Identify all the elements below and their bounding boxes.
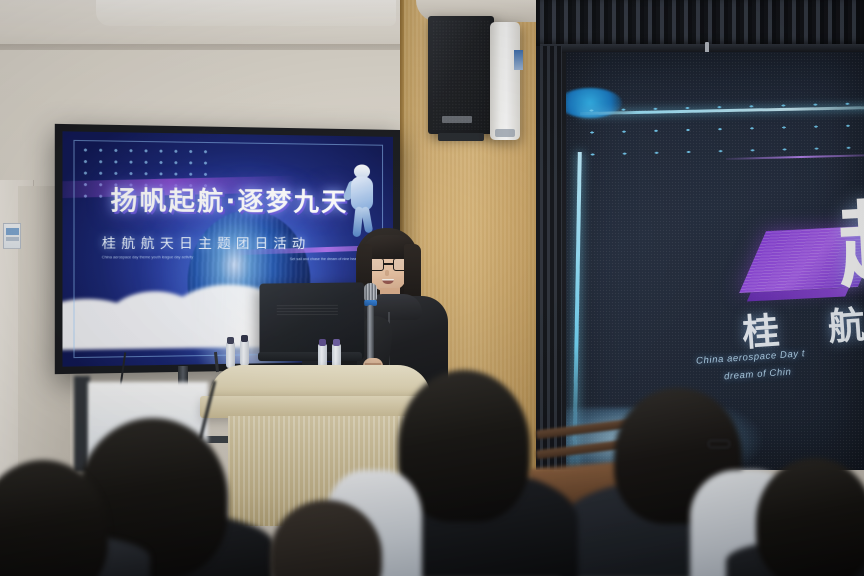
slat-left-strip — [536, 46, 562, 470]
water-bottle — [226, 342, 235, 368]
speaker-mount-bracket — [438, 133, 484, 141]
mic-grille — [364, 283, 377, 301]
left-screen-title: 扬帆起航·逐梦九天 — [110, 180, 371, 219]
water-bottle — [240, 340, 249, 366]
monitor-base — [258, 352, 362, 361]
right-screen-chinese-line: 桂 航 — [740, 293, 864, 357]
dark-slat-wall-top — [536, 0, 864, 46]
left-screen-english-left: China aerospace day theme youth league d… — [102, 255, 230, 261]
wall-notice-placard — [3, 223, 21, 249]
monitor-vent — [277, 305, 338, 317]
white-column-speaker — [490, 22, 520, 140]
speaker-base — [495, 129, 515, 137]
ceiling-recess — [96, 0, 396, 26]
audience-eyeglasses-icon — [708, 440, 730, 448]
black-loudspeaker — [428, 16, 494, 134]
speaker-label-tag — [514, 50, 523, 70]
presenter-monitor-rear — [260, 282, 365, 359]
photo-scene: 起 桂 航 China aerospace Day t dream of Chi… — [0, 0, 864, 576]
speaker-brand-logo — [442, 116, 472, 123]
